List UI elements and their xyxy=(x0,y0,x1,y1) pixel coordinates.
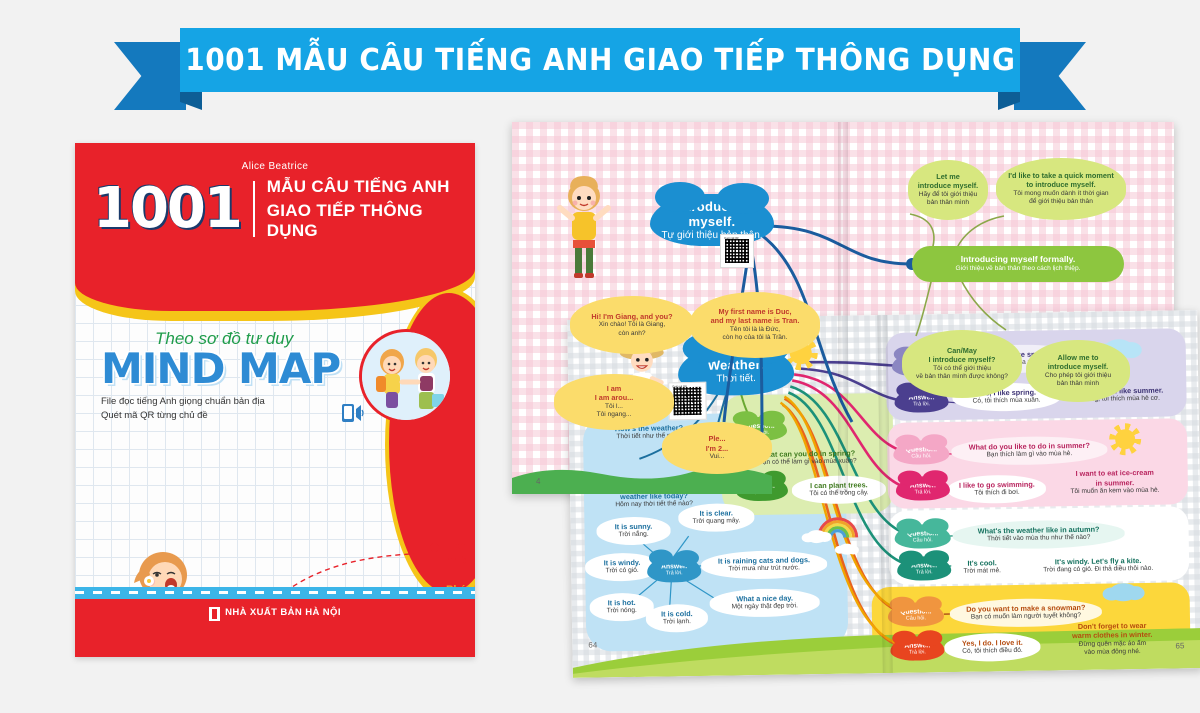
bubble-right-4-en2: introduce myself. xyxy=(1035,362,1121,371)
speaker-phone-icon xyxy=(340,402,366,424)
cover-qr-note-line1: File đọc tiếng Anh giọng chuẩn bản địa xyxy=(101,395,340,409)
bubble-right-4[interactable]: Allow me to introduce myself. Cho phép t… xyxy=(1026,340,1130,402)
purple-a-label-vi: Trả lời. xyxy=(913,401,930,407)
blue-a7-vi: Một ngày thật đẹp trời. xyxy=(719,603,811,613)
yellow-q-label-vi: Câu hỏi. xyxy=(906,615,926,621)
cover-footer-strip xyxy=(75,587,475,599)
cover-title-line2: GIAO TIẾP THÔNG DỤNG xyxy=(267,201,461,241)
yellow-question-node[interactable]: Question. Câu hỏi. xyxy=(888,602,944,627)
publisher-logo-icon xyxy=(209,607,220,621)
qr-code-icon xyxy=(673,387,702,416)
cover-author: Alice Beatrice xyxy=(75,161,475,172)
small-cloud-icon xyxy=(839,543,855,554)
spread-back-grass xyxy=(512,460,1174,494)
bubble-right-1-vi2: bản thân mình xyxy=(917,199,979,208)
page-banner: 1001 MẪU CÂU TIẾNG ANH GIAO TIẾP THÔNG D… xyxy=(180,28,1020,100)
qr-label-top: Quét mã QR xyxy=(724,237,739,240)
title-divider xyxy=(253,181,255,237)
bubble-left-3-en2: I am arou... xyxy=(563,393,665,402)
bubble-left-1-vi1: Xin chào! Tôi là Giang, xyxy=(579,321,685,330)
bullet-dot-icon xyxy=(430,543,439,552)
yellow-a-label-vi: Trả lời. xyxy=(909,649,926,655)
girl-character-illustration xyxy=(556,174,612,280)
cover-footer: NHÀ XUẤT BẢN HÀ NỘI xyxy=(75,599,475,657)
bubble-right-2[interactable]: I'd like to take a quick moment to intro… xyxy=(996,158,1126,220)
bubble-left-2[interactable]: My first name is Duc, and my last name i… xyxy=(690,292,820,358)
small-cloud-icon xyxy=(807,530,827,543)
bubble-right-4-vi1: Cho phép tôi giới thiệu xyxy=(1035,372,1121,381)
cover-mindmap-block: Theo sơ đồ tư duy MIND MAP File đọc tiến… xyxy=(101,329,340,422)
yellow-answer-node[interactable]: Answer. Trả lời. xyxy=(890,636,944,661)
list-item: Học nhanh, nhớ lâu xyxy=(430,539,475,569)
bubble-left-2-en2: and my last name is Tran. xyxy=(699,316,811,325)
cover-title-line1: MẪU CÂU TIẾNG ANH xyxy=(267,177,461,197)
qr-label-top: Quét mã QR xyxy=(672,385,687,388)
pink-q-label-vi: Câu hỏi. xyxy=(911,453,931,459)
spread-back-right-center-node[interactable]: Introducing myself formally. Giới thiệu … xyxy=(912,246,1124,282)
bubble-right-1[interactable]: Let me introduce myself. Hãy để tôi giới… xyxy=(908,160,988,220)
bubble-right-3-en2: I introduce myself? xyxy=(911,355,1013,364)
cover-big-number: 1001 xyxy=(93,181,241,237)
bubble-left-1-vi2: còn anh? xyxy=(579,330,685,339)
bubble-right-3-vi2: về bản thân mình được không? xyxy=(911,373,1013,382)
page-number-right: 65 xyxy=(1175,641,1184,650)
blue-a3-vi: Trời có gió. xyxy=(594,567,650,576)
blue-a5-vi: Trời nóng. xyxy=(599,607,645,616)
yellow-answer-2[interactable]: Don't forget to wear warm clothes in win… xyxy=(1042,616,1183,662)
teal-question-node[interactable]: Question. Câu hỏi. xyxy=(894,524,950,549)
sun-icon xyxy=(1115,429,1135,449)
bubble-right-3[interactable]: Can/May I introduce myself? Tôi có thể g… xyxy=(902,330,1022,398)
bubble-left-4[interactable]: Ple... I'm 2... Vui... xyxy=(662,422,772,474)
banner-body: 1001 MẪU CÂU TIẾNG ANH GIAO TIẾP THÔNG D… xyxy=(180,28,1020,92)
bubble-left-2-en1: My first name is Duc, xyxy=(699,307,811,316)
blue-a4-vi: Trời mưa như trút nước. xyxy=(710,565,818,575)
ribbon-tail-left xyxy=(114,42,186,110)
bullet-0-line1: Học nhanh, xyxy=(446,540,475,552)
page-number-left: 4 xyxy=(536,477,540,486)
bubble-left-3[interactable]: I am I am arou... Tôi l... Tôi ngang... xyxy=(554,374,674,430)
bubble-left-4-en2: I'm 2... xyxy=(671,444,763,453)
ribbon-tail-right xyxy=(1014,42,1086,110)
right-center-en: Introducing myself formally. xyxy=(921,254,1115,265)
bubble-right-2-en2: to introduce myself. xyxy=(1005,180,1117,189)
bubble-left-3-en1: I am xyxy=(563,384,665,393)
qr-code-sticker[interactable]: Quét mã QR xyxy=(668,382,707,421)
weather-center-en: Weather. xyxy=(708,356,765,372)
snow-cloud-icon xyxy=(1109,583,1137,601)
page-number-left: 64 xyxy=(588,641,597,650)
bubble-left-1[interactable]: Hi! I'm Giang, and you? Xin chào! Tôi là… xyxy=(570,296,694,354)
bubble-left-4-en1: Ple... xyxy=(671,434,763,443)
bubble-left-2-vi2: còn họ của tôi là Trần. xyxy=(699,334,811,343)
bubble-right-1-en2: introduce myself. xyxy=(917,181,979,190)
publisher-name: NHÀ XUẤT BẢN HÀ NỘI xyxy=(225,607,341,618)
bubble-right-4-vi2: bản thân mình xyxy=(1035,380,1121,389)
bullet-0-line2: nhớ lâu xyxy=(446,555,475,567)
blue-a-label-vi: Trả lời. xyxy=(666,570,683,576)
bubble-right-1-en1: Let me xyxy=(917,172,979,181)
cover-kids-illustration xyxy=(359,329,453,423)
banner-title: 1001 MẪU CÂU TIẾNG ANH GIAO TIẾP THÔNG D… xyxy=(185,43,1015,78)
bubble-right-2-vi2: để giới thiệu bản thân xyxy=(1005,198,1117,207)
qr-code-sticker[interactable]: Quét mã QR xyxy=(720,234,754,268)
cover-qr-note-line2: Quét mã QR từng chủ đề xyxy=(101,409,340,423)
bubble-left-3-vi1: Tôi l... xyxy=(563,403,665,412)
right-center-vi: Giới thiệu về bản thân theo cách lịch th… xyxy=(921,265,1115,274)
teal-answer-node[interactable]: Answer. Trả lời. xyxy=(897,556,951,581)
bubble-right-2-en1: I'd like to take a quick moment xyxy=(1005,171,1117,180)
bubble-right-4-en1: Allow me to xyxy=(1035,353,1121,362)
purple-a1-vi: Có, tôi thích mùa xuân. xyxy=(962,397,1052,407)
blue-a1-vi: Trời nắng. xyxy=(606,531,662,540)
center-node-en: Introducing myself. xyxy=(650,199,774,229)
bubble-left-4-vi1: Vui... xyxy=(671,453,763,462)
cover-qr-note: File đọc tiếng Anh giọng chuẩn bản địa Q… xyxy=(101,395,340,423)
cover-mindmap-text: MIND MAP xyxy=(101,349,340,389)
blue-a6-vi: Trời lạnh. xyxy=(655,618,699,627)
qr-code-icon xyxy=(725,239,750,264)
cover-title-row: 1001 MẪU CÂU TIẾNG ANH GIAO TIẾP THÔNG D… xyxy=(93,177,461,241)
spread-back-center-node[interactable]: Introducing myself. Tự giới thiệu bản th… xyxy=(650,194,774,246)
teal-a2-vi: Trời đang có gió. Đi thả diều thôi nào. xyxy=(1020,565,1176,576)
teal-q-label-vi: Câu hỏi. xyxy=(913,537,933,543)
yellow-a1-vi: Có, tôi thích điều đó. xyxy=(953,647,1031,657)
bubble-left-3-vi2: Tôi ngang... xyxy=(563,411,665,420)
teal-a1-vi: Trời mát mẻ. xyxy=(960,568,1004,577)
teal-q1-vi: Thời tiết vào mùa thu như thế nào? xyxy=(962,534,1116,545)
book-cover[interactable]: Alice Beatrice 1001 MẪU CÂU TIẾNG ANH GI… xyxy=(75,143,475,657)
bubble-left-1-en: Hi! I'm Giang, and you? xyxy=(579,312,685,321)
blue-answer-node[interactable]: Answer. Trả lời. xyxy=(647,556,701,583)
blue-a2-vi: Trời quang mây. xyxy=(687,518,745,527)
teal-a-label-vi: Trả lời. xyxy=(916,569,933,575)
weather-center-vi: Thời tiết. xyxy=(716,373,756,385)
bubble-right-3-en1: Can/May xyxy=(911,346,1013,355)
bubble-right-1-vi1: Hãy để tôi giới thiệu xyxy=(917,191,979,200)
